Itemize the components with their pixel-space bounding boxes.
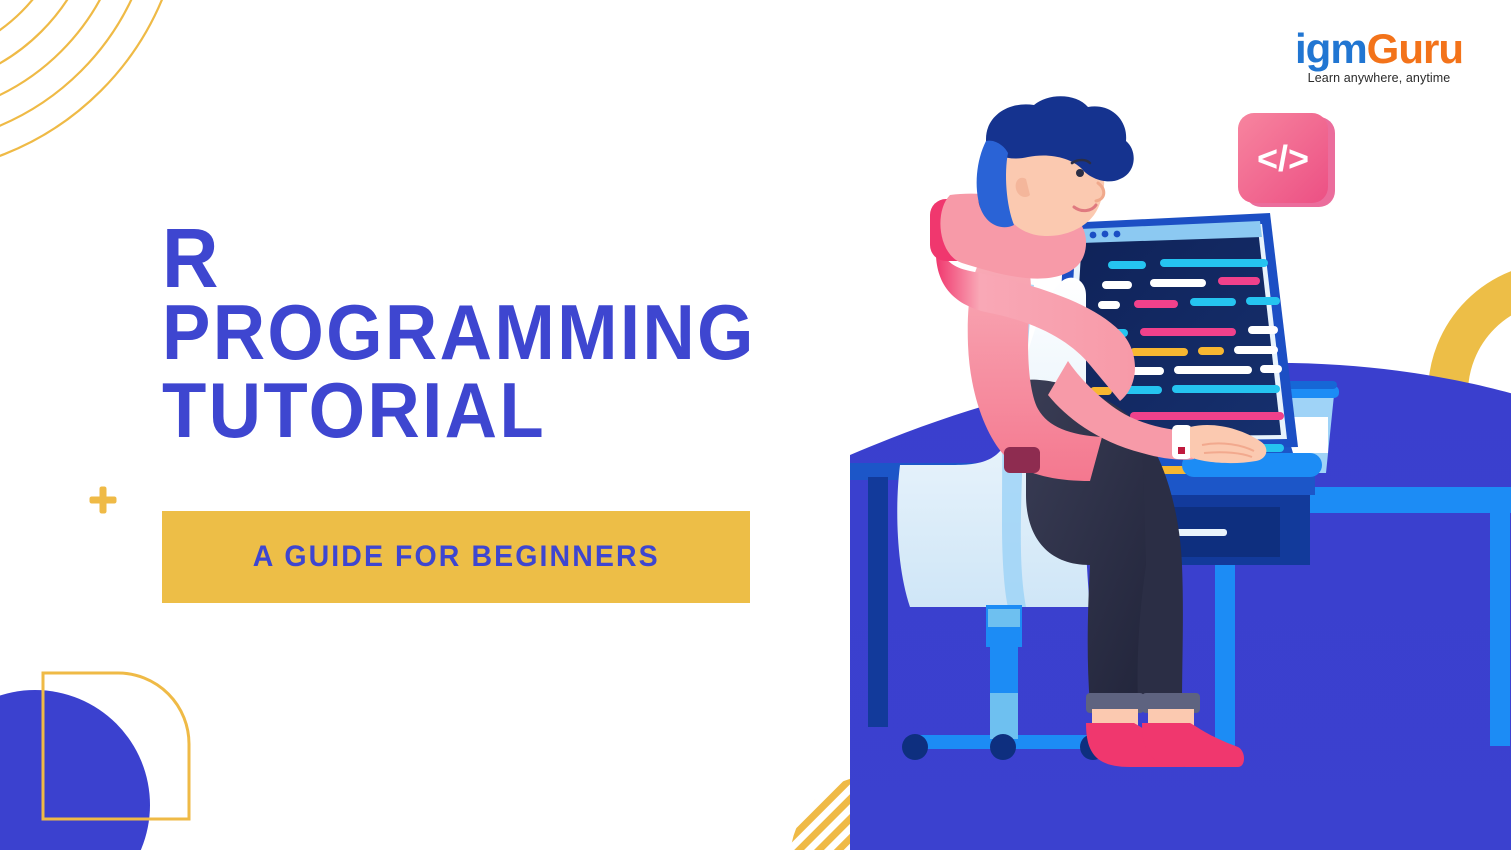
subtitle-text: A GUIDE FOR BEGINNERS <box>252 540 659 574</box>
code-badge-text: </> <box>1257 138 1309 179</box>
plus-mark-icon <box>88 485 118 515</box>
quarter-round-square-decoration <box>40 670 192 822</box>
logo-wordmark: igmGuru <box>1295 28 1463 70</box>
head <box>977 96 1134 236</box>
page-title-line-1: R <box>162 218 869 299</box>
page-title-line-3: TUTORIAL <box>162 373 869 449</box>
code-badge-icon: </> <box>1238 113 1335 207</box>
logo-text-guru: Guru <box>1367 25 1463 72</box>
developer-at-desk-illustration: </> <box>790 95 1511 850</box>
page-title-line-2: PROGRAMMING <box>162 295 869 371</box>
poster-canvas: </> <box>0 0 1511 850</box>
hero-title-block: R PROGRAMMING TUTORIAL <box>162 218 922 449</box>
subtitle-banner: A GUIDE FOR BEGINNERS <box>162 511 750 603</box>
logo-tagline: Learn anywhere, anytime <box>1295 71 1463 85</box>
logo-text-igm: igm <box>1295 25 1367 72</box>
brand-logo[interactable]: igmGuru Learn anywhere, anytime <box>1295 28 1463 85</box>
